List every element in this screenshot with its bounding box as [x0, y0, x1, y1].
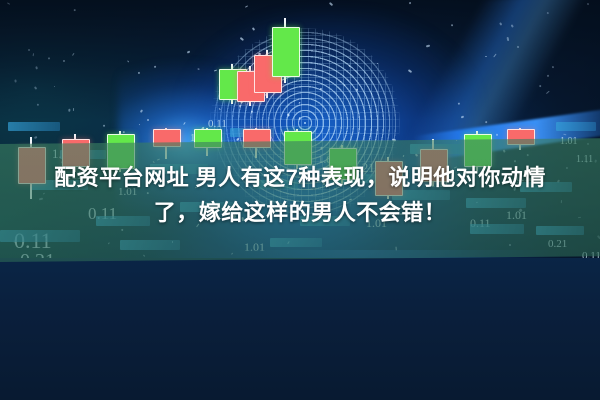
banner-image: 0.110.211.011.110.111.011.110.111.011.01…: [0, 0, 600, 400]
headline-line-1: 配资平台网址 男人有这7种表现，说明他对你动情: [0, 160, 600, 195]
headline-line-2: 了，嫁给这样的男人不会错！: [0, 195, 600, 230]
headline-text: 配资平台网址 男人有这7种表现，说明他对你动情 了，嫁给这样的男人不会错！: [0, 160, 600, 230]
